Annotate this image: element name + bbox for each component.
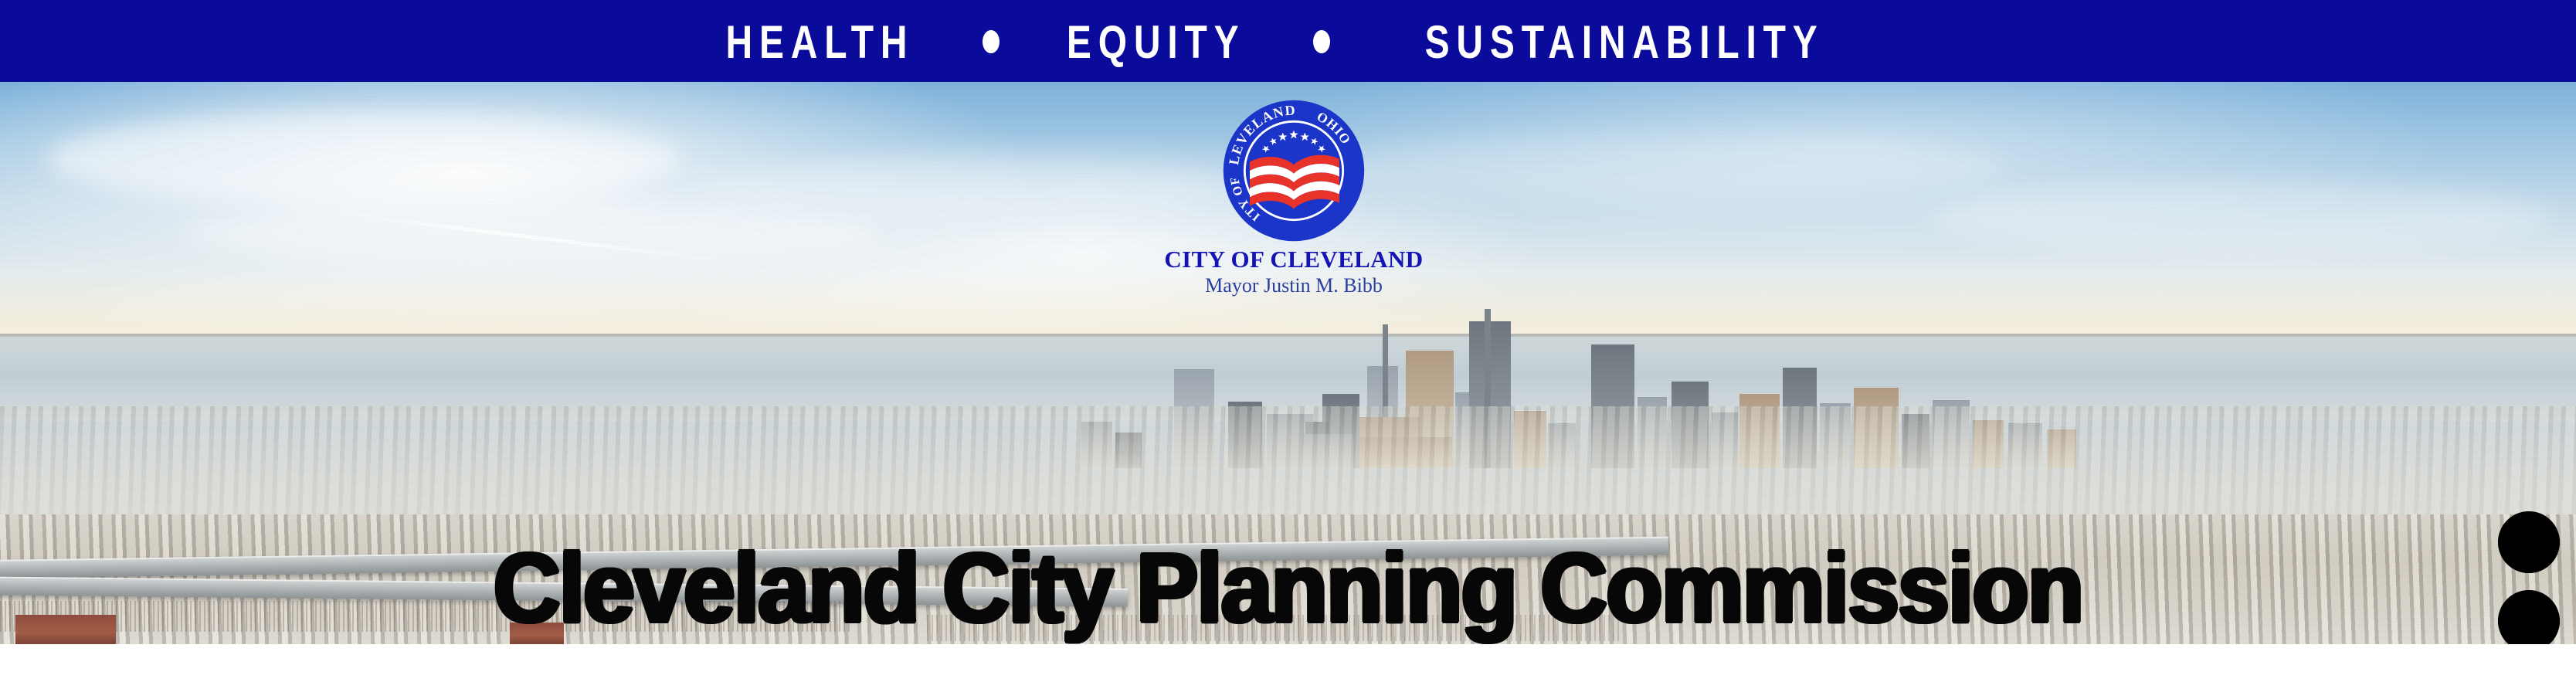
bullet-dot-icon: [983, 30, 1000, 53]
tagline-word-health: HEALTH: [726, 16, 915, 66]
tagline-word-sustainability: SUSTAINABILITY: [1424, 16, 1824, 66]
page-root: HEALTH EQUITY SUSTAINABILITY: [0, 0, 2576, 682]
hero-photo: CLEVELAND CITY OF OHIO: [0, 82, 2576, 644]
tagline-banner: HEALTH EQUITY SUSTAINABILITY: [0, 0, 2576, 82]
page-bottom-whitespace: [0, 644, 2576, 682]
logo-mayor-name: Mayor Justin M. Bibb: [1159, 274, 1429, 297]
city-of-cleveland-seal-icon: CLEVELAND CITY OF OHIO: [1220, 97, 1367, 244]
cloud-streak: [1931, 182, 2549, 252]
cloud-streak: [185, 198, 881, 267]
tagline-word-equity: EQUITY: [1067, 16, 1245, 66]
youtube-icon[interactable]: [2498, 511, 2560, 573]
bullet-dot-icon: [1313, 30, 1330, 53]
logo-city-name: CITY OF CLEVELAND: [1159, 247, 1429, 273]
city-logo-lockup[interactable]: CLEVELAND CITY OF OHIO: [1159, 97, 1429, 297]
cloud-streak: [695, 159, 1236, 213]
tagline-banner-inner: HEALTH EQUITY SUSTAINABILITY: [0, 0, 2576, 82]
cloud-streak: [46, 113, 680, 205]
social-media-rail: [2497, 511, 2561, 644]
instagram-icon[interactable]: [2498, 590, 2560, 644]
page-title: Cleveland City Planning Commission: [0, 539, 2576, 637]
